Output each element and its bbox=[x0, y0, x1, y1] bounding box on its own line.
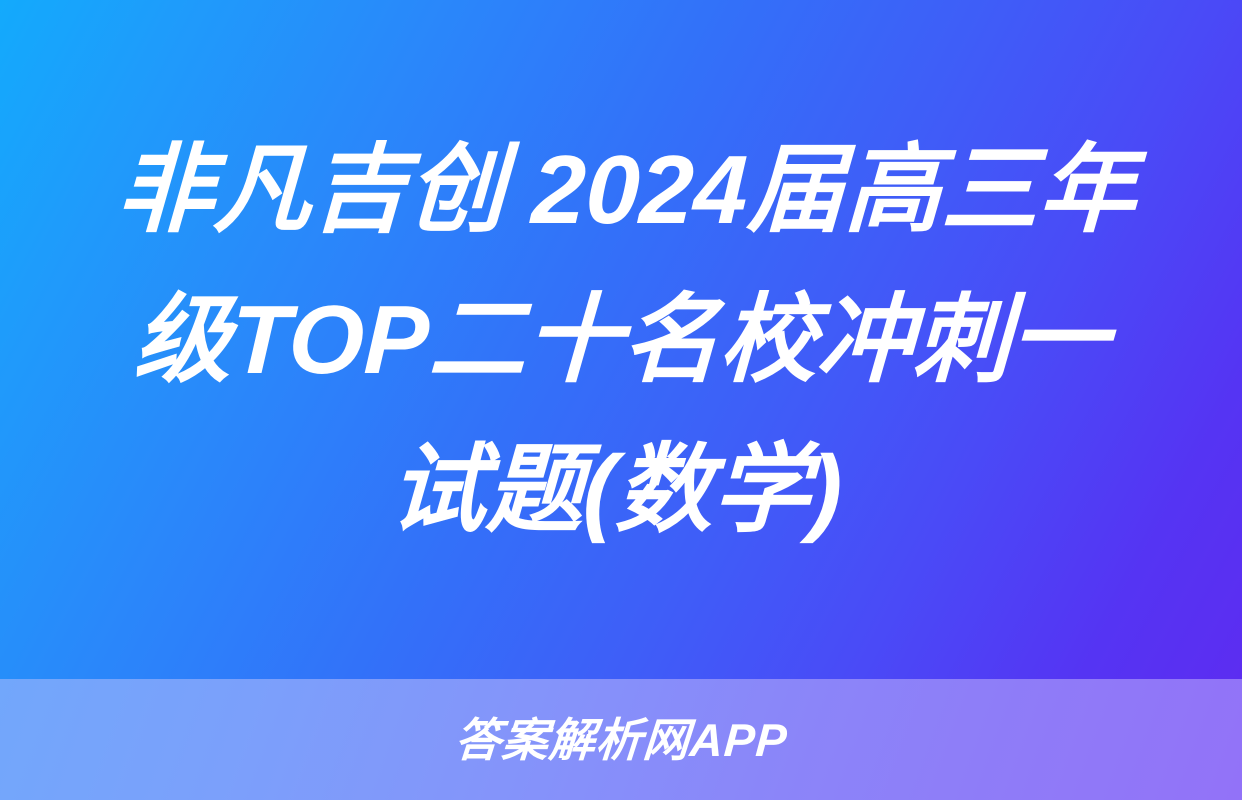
exam-cover-poster: 非凡吉创 2024届高三年级TOP二十名校冲刺一试题(数学) 答案解析网APP bbox=[0, 0, 1242, 800]
watermark-band: 答案解析网APP bbox=[0, 679, 1242, 800]
hero-gradient-background: 非凡吉创 2024届高三年级TOP二十名校冲刺一试题(数学) bbox=[0, 0, 1242, 679]
page-title: 非凡吉创 2024届高三年级TOP二十名校冲刺一试题(数学) bbox=[83, 115, 1159, 565]
title-block: 非凡吉创 2024届高三年级TOP二十名校冲刺一试题(数学) bbox=[71, 115, 1171, 565]
watermark-text: 答案解析网APP bbox=[453, 717, 789, 763]
